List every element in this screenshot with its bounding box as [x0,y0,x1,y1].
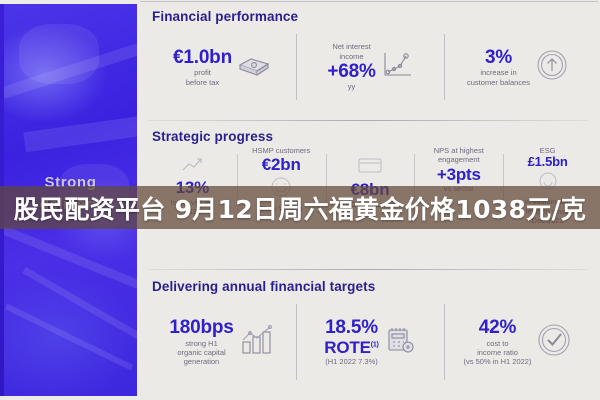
calculator-icon [384,324,416,361]
metric-value: £1.5bn [506,155,589,170]
metric-lead: NPS at highest [417,146,500,155]
metric-value: €1.0bn [173,47,232,68]
metric-lead: HSMP customers [240,146,323,155]
metric-value: 42% [464,317,532,338]
metric-lead [151,146,234,155]
growth-icon [151,156,234,177]
metric-value: 18.5% [324,317,378,338]
metric-sub: organic capital [169,348,233,357]
section-annual-targets: Delivering annual financial targets 180b… [140,272,600,398]
metric-value: 3% [467,47,530,68]
metric-sub: cost to [464,339,532,348]
metric-value: +3pts [417,165,500,185]
metric-rote: 18.5% ROTE(1) (H1 2022 7.3%) [296,298,444,386]
metric-lead: engagement [417,155,500,164]
metric-sub: yy [327,82,375,91]
bar-line-chart-icon [239,324,275,361]
metric-value-second: ROTE(1) [324,338,378,357]
arrow-up-circle-icon [535,48,569,87]
metric-sub: income ratio [464,348,532,357]
photo-streak [23,116,137,153]
metric-organic-capital-generation: 180bps strong H1 organic capital generat… [148,298,296,386]
check-circle-icon [536,322,572,363]
metric-sub: generation [169,357,233,366]
metric-lead [329,146,412,155]
section-title-targets: Delivering annual financial targets [140,272,600,294]
metric-sub: before tax [173,78,232,87]
metric-customer-balances: 3% increase in customer balances [444,28,592,106]
metric-sub: (H1 2022 7.3%) [324,357,378,366]
banknotes-icon [237,52,271,83]
metric-profit-before-tax: €1.0bn profit before tax [148,28,296,106]
metric-value: 180bps [169,317,233,338]
section-divider [148,120,588,121]
metric-sub: customer balances [467,78,530,87]
overlay-banner-text: 股民配资平台 9月12日周六福黄金价格1038元/克 [14,190,586,226]
metric-superscript: (1) [371,342,379,349]
metric-cost-to-income: 42% cost to income ratio (vs 50% in H1 2… [444,298,592,386]
card-icon [329,156,412,179]
metric-net-interest-income: Net interest income +68% yy [296,28,444,106]
photo-streak [5,304,133,371]
metric-rote-label: ROTE [324,338,370,357]
overlay-banner: 股民配资平台 9月12日周六福黄金价格1038元/克 [0,186,600,229]
section-title-strategic: Strategic progress [140,122,600,144]
metric-lead: income [327,52,375,61]
metric-value: +68% [327,61,375,82]
metric-lead: Net interest [327,42,375,51]
section-title-financial: Financial performance [140,2,600,24]
metric-sub: increase in [467,68,530,77]
targets-metric-row: 180bps strong H1 organic capital generat… [140,294,600,386]
slide-page: Strong delivery Financial performance €1… [0,0,600,400]
metric-sub: (vs 50% in H1 2022) [464,357,532,366]
line-chart-up-icon [381,50,413,85]
metric-sub: strong H1 [169,339,233,348]
section-financial-performance: Financial performance €1.0bn profit befo… [140,2,600,117]
metric-sub: profit [173,68,232,77]
photo-streak [4,221,137,297]
metric-value: €2bn [240,155,323,175]
financial-metric-row: €1.0bn profit before tax [140,24,600,106]
